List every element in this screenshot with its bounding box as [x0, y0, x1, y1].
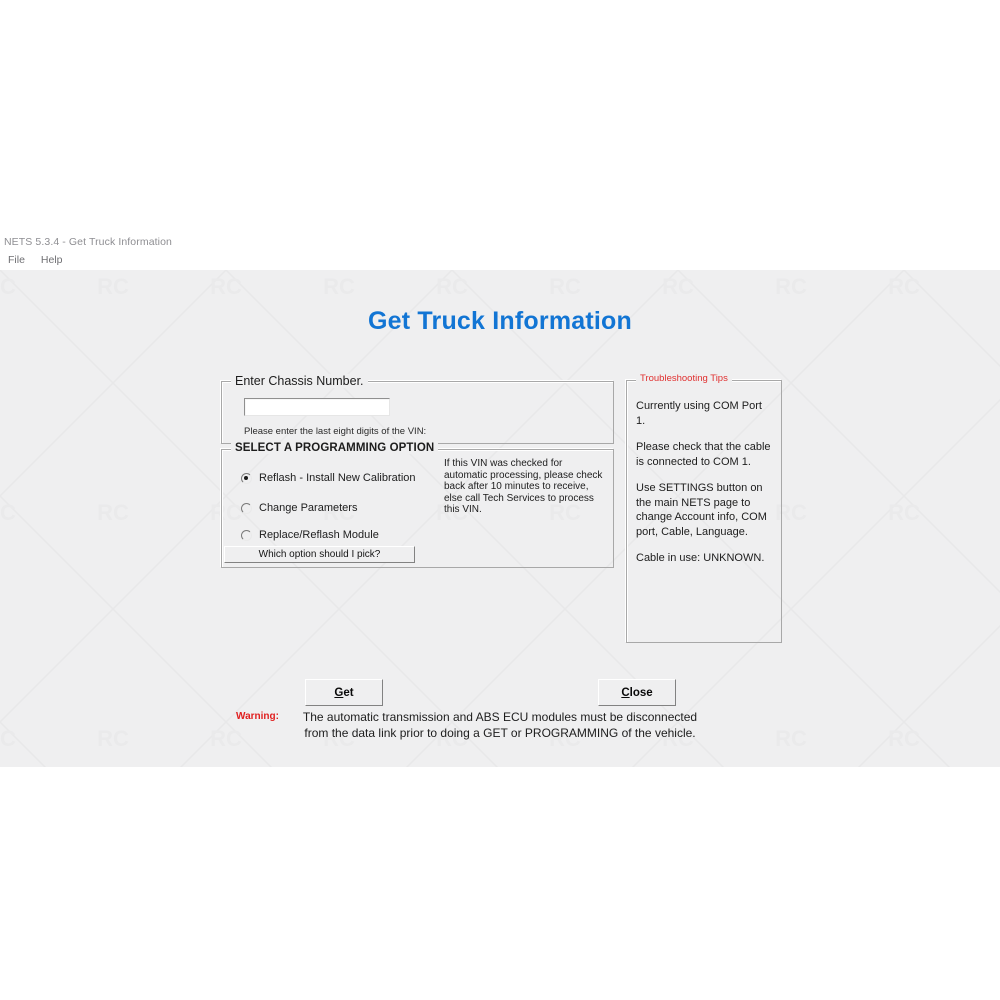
get-button-rest: et: [343, 687, 353, 699]
menu-bar: File Help: [0, 252, 71, 268]
warning-line-1: The automatic transmission and ABS ECU m…: [300, 710, 700, 726]
vin-hint-label: Please enter the last eight digits of th…: [244, 426, 426, 437]
radio-mark-icon: [241, 530, 252, 541]
troubleshooting-tips-group: Troubleshooting Tips Currently using COM…: [626, 380, 782, 643]
which-option-should-i-pick-button[interactable]: Which option should I pick?: [224, 546, 415, 563]
close-button[interactable]: Close: [598, 679, 676, 706]
troubleshooting-tips-body: Currently using COM Port 1. Please check…: [636, 399, 774, 566]
title-bar: NETS 5.3.4 - Get Truck Information File …: [0, 232, 1000, 270]
programming-group-legend: SELECT A PROGRAMMING OPTION: [231, 442, 438, 454]
radio-label: Reflash - Install New Calibration: [259, 472, 416, 484]
programming-info-text: If this VIN was checked for automatic pr…: [444, 458, 604, 516]
radio-label: Change Parameters: [259, 502, 357, 514]
get-button[interactable]: Get: [305, 679, 383, 706]
tips-paragraph: Currently using COM Port 1.: [636, 399, 774, 428]
radio-reflash-install-new-calibration[interactable]: Reflash - Install New Calibration: [241, 472, 416, 484]
radio-change-parameters[interactable]: Change Parameters: [241, 502, 357, 514]
tips-paragraph: Cable in use: UNKNOWN.: [636, 551, 774, 566]
chassis-number-input[interactable]: [244, 398, 390, 416]
chassis-group-legend: Enter Chassis Number.: [231, 374, 368, 388]
tips-paragraph: Use SETTINGS button on the main NETS pag…: [636, 481, 774, 539]
menu-item-help[interactable]: Help: [33, 252, 71, 268]
radio-mark-icon: [241, 503, 252, 514]
warning-label: Warning:: [236, 711, 279, 722]
troubleshooting-tips-legend: Troubleshooting Tips: [636, 373, 732, 384]
which-option-button-label: Which option should I pick?: [259, 549, 381, 560]
window-title: NETS 5.3.4 - Get Truck Information: [4, 236, 172, 248]
close-button-mnemonic: C: [621, 687, 629, 699]
radio-label: Replace/Reflash Module: [259, 529, 379, 541]
warning-line-2: from the data link prior to doing a GET …: [300, 726, 700, 742]
get-button-label: Get: [334, 687, 353, 699]
warning-message: The automatic transmission and ABS ECU m…: [300, 710, 700, 741]
chassis-number-group: Enter Chassis Number. Please enter the l…: [221, 381, 614, 444]
close-button-label: Close: [621, 687, 652, 699]
menu-item-file[interactable]: File: [0, 252, 33, 268]
radio-replace-reflash-module[interactable]: Replace/Reflash Module: [241, 529, 379, 541]
close-button-rest: lose: [630, 687, 653, 699]
radio-mark-icon: [241, 473, 252, 484]
tips-paragraph: Please check that the cable is connected…: [636, 440, 774, 469]
page-title: Get Truck Information: [0, 307, 1000, 336]
screen-root: NETS 5.3.4 - Get Truck Information File …: [0, 0, 1000, 1000]
